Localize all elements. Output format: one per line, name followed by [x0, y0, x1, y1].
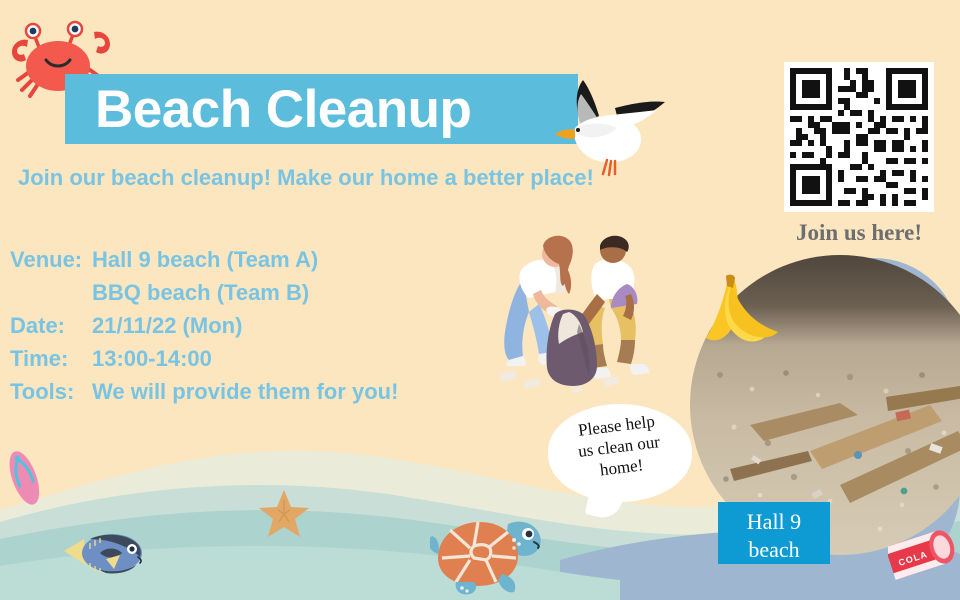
- detail-value: We will provide them for you!: [92, 375, 480, 408]
- qr-code-block[interactable]: Join us here!: [784, 62, 934, 246]
- detail-label: Venue:: [10, 243, 92, 276]
- page-title: Beach Cleanup: [95, 79, 565, 141]
- detail-value: BBQ beach (Team B): [92, 276, 480, 309]
- speech-bubble-text: Please help us clean our home!: [552, 407, 689, 502]
- hall-tag-line-1: Hall 9: [718, 508, 830, 536]
- detail-row: Tools: We will provide them for you!: [10, 375, 480, 408]
- hall-9-beach-tag: Hall 9 beach: [718, 502, 830, 564]
- detail-row: Venue: BBQ beach (Team B): [10, 276, 480, 309]
- detail-value: 21/11/22 (Mon): [92, 309, 480, 342]
- starfish-illustration: [258, 488, 310, 540]
- subtitle: Join our beach cleanup! Make our home a …: [18, 165, 718, 191]
- detail-row: Venue: Hall 9 beach (Team A): [10, 243, 480, 276]
- detail-label: Tools:: [10, 375, 92, 408]
- qr-caption: Join us here!: [784, 220, 934, 246]
- detail-label: Time:: [10, 342, 92, 375]
- banana-peel-illustration: [702, 272, 782, 354]
- volunteers-illustration: [483, 228, 658, 393]
- flip-flop-illustration: [4, 446, 44, 508]
- hall-tag-line-2: beach: [718, 536, 830, 564]
- detail-row: Date: 21/11/22 (Mon): [10, 309, 480, 342]
- detail-value: Hall 9 beach (Team A): [92, 243, 480, 276]
- detail-value: 13:00-14:00: [92, 342, 480, 375]
- sea-turtle-illustration: [430, 496, 560, 600]
- detail-label: Date:: [10, 309, 92, 342]
- event-details: Venue: Hall 9 beach (Team A) Venue: BBQ …: [10, 243, 480, 408]
- qr-code-image[interactable]: [784, 62, 934, 212]
- cola-can-illustration: COLA: [888, 522, 960, 592]
- detail-row: Time: 13:00-14:00: [10, 342, 480, 375]
- blue-tang-fish-illustration: [62, 525, 152, 583]
- beach-cleanup-poster: COLA Hall 9 beach: [0, 0, 960, 600]
